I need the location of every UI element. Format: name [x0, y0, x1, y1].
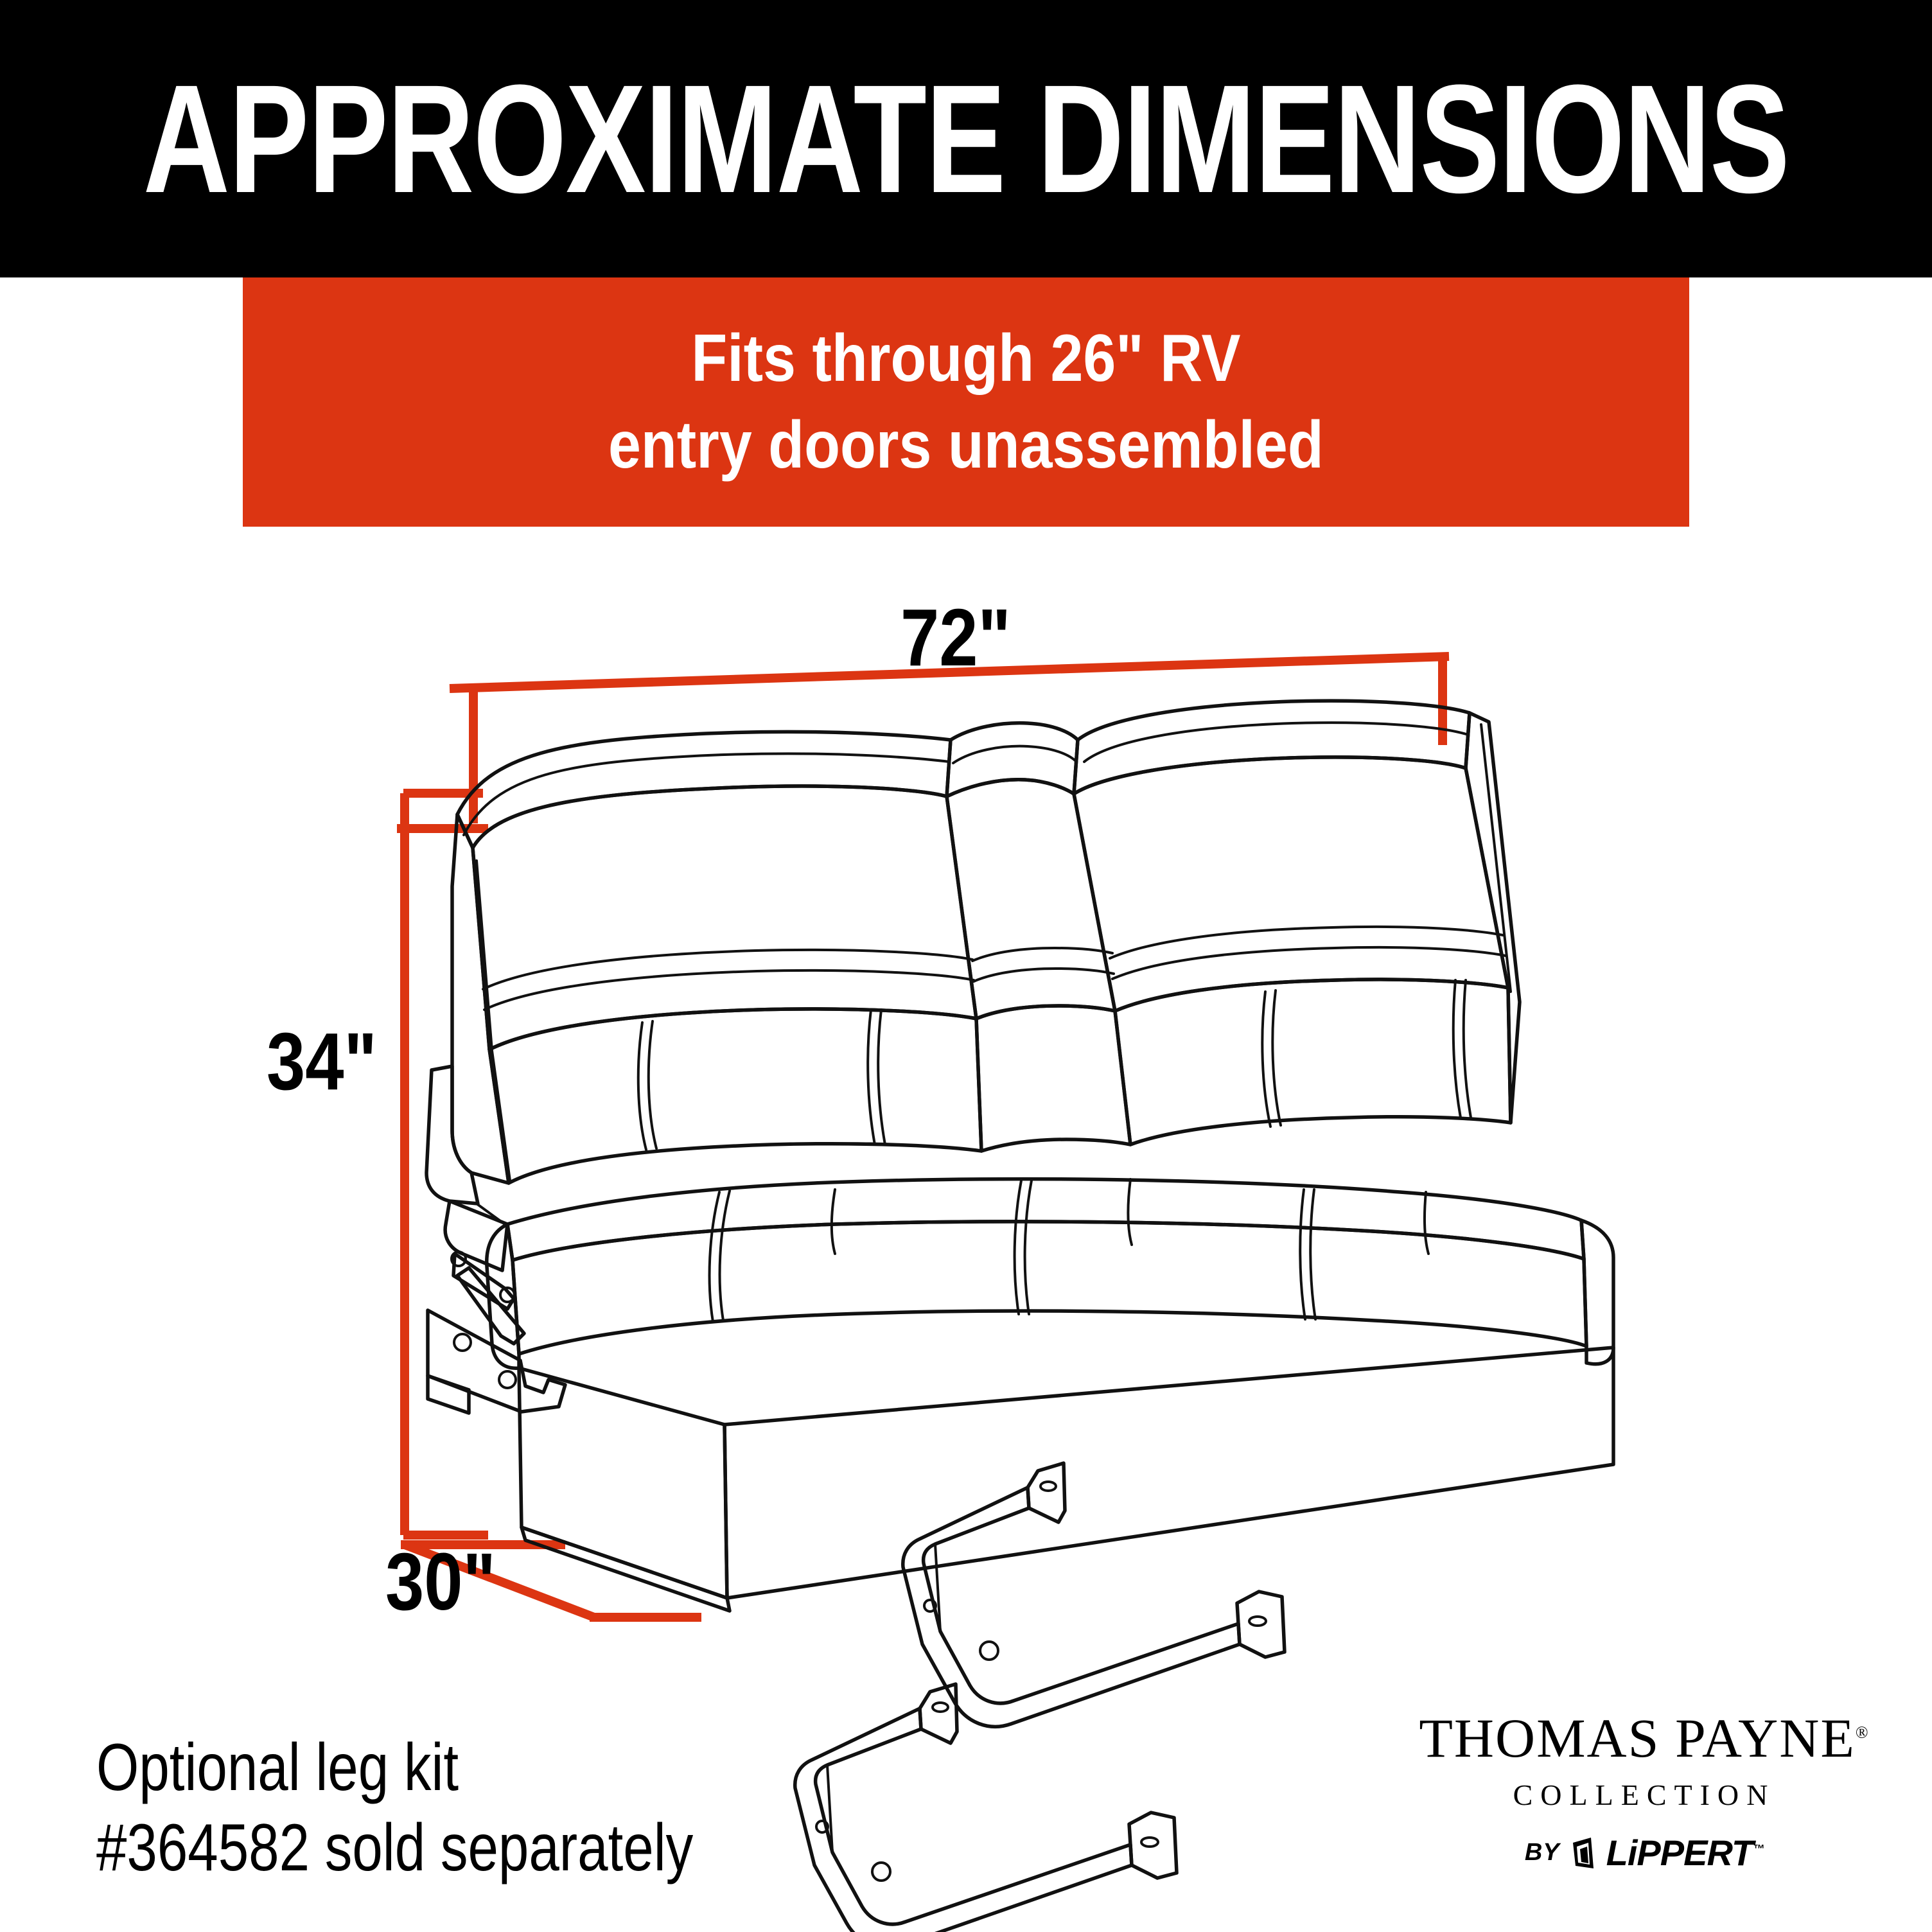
sofa-base-skirt	[519, 1348, 1613, 1611]
lippert-mark-icon	[1569, 1836, 1597, 1870]
sofa-backrest-center	[947, 723, 1130, 1151]
leg-kit-note-line-1: Optional leg kit	[96, 1728, 693, 1808]
by-label: BY	[1525, 1839, 1560, 1866]
lippert-triangle-icon	[1569, 1836, 1597, 1870]
brand-name: THOMAS PAYNE	[1419, 1707, 1856, 1769]
brand-wordmark: THOMAS PAYNE®	[1413, 1706, 1875, 1770]
collection-label: COLLECTION	[1413, 1778, 1875, 1812]
leg-kit-bracket-rear	[903, 1463, 1285, 1726]
leg-kit-note-line-2: #364582 sold separately	[96, 1808, 693, 1888]
sofa-backrest-left	[426, 732, 981, 1204]
lippert-text: LiPPERT	[1606, 1832, 1753, 1873]
brand-logo: TP THOMAS PAYNE® COLLECTION BY LiPPERT™	[1413, 1644, 1875, 1901]
sofa-line-drawing	[0, 0, 1932, 1932]
dimensions-infographic: APPROXIMATE DIMENSIONS Fits through 26" …	[0, 0, 1932, 1932]
leg-kit-bracket-front	[795, 1684, 1177, 1932]
lippert-wordmark: LiPPERT™	[1606, 1832, 1764, 1874]
sofa-backrest-right	[1074, 701, 1520, 1145]
parent-brand-byline: BY LiPPERT™	[1413, 1832, 1875, 1874]
trademark-mark: ™	[1753, 1842, 1764, 1855]
registered-mark: ®	[1856, 1723, 1870, 1741]
sofa-seat-cushions	[487, 1179, 1613, 1369]
leg-kit-note: Optional leg kit #364582 sold separately	[96, 1728, 693, 1888]
